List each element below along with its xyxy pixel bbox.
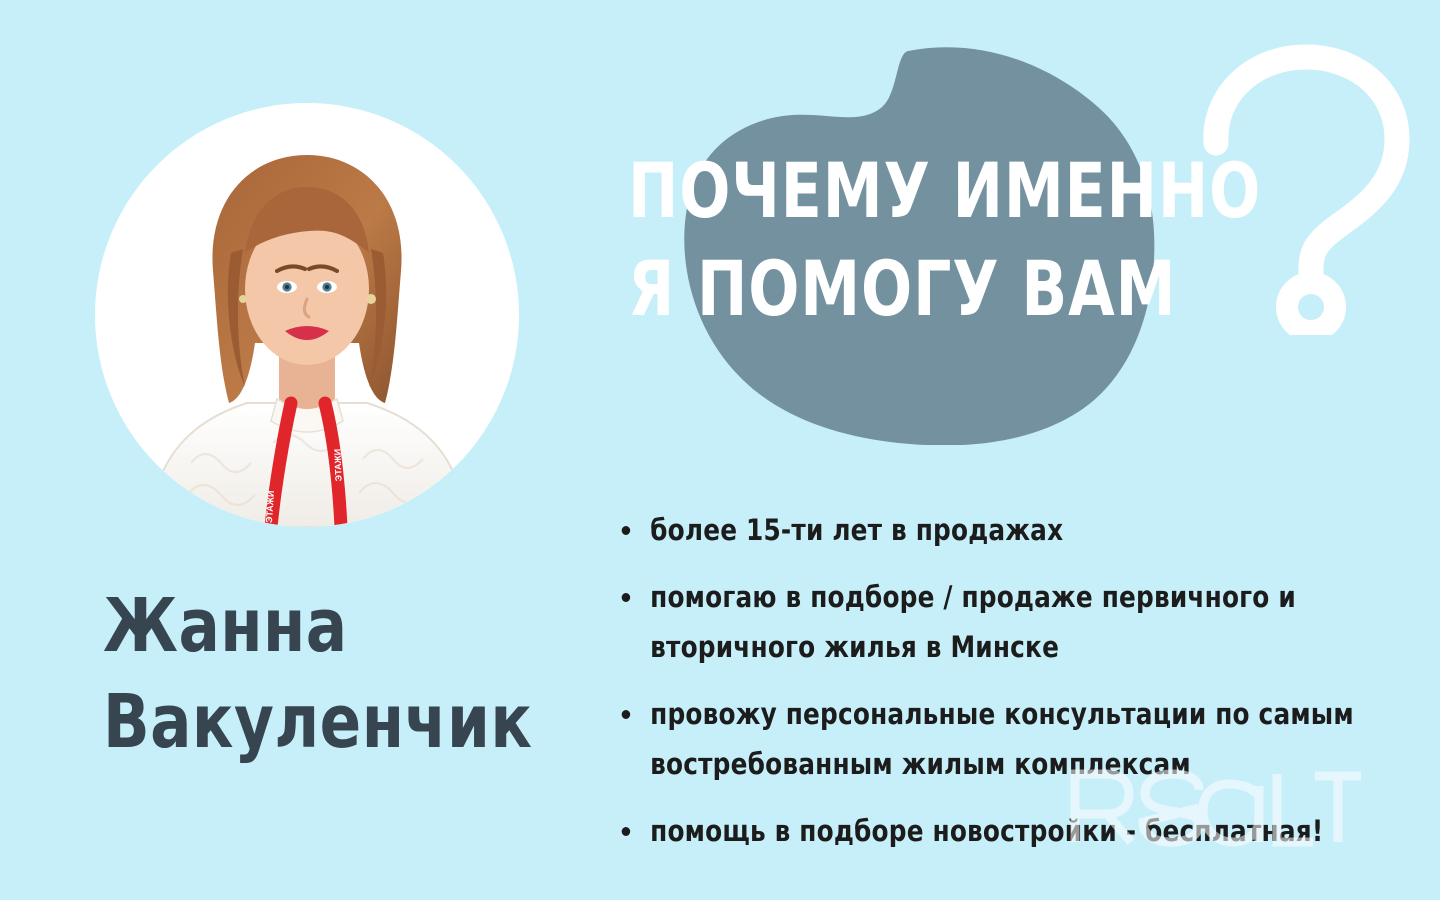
realt-watermark-logo xyxy=(1063,762,1363,848)
list-item: более 15-ти лет в продажах xyxy=(615,505,1394,555)
headline-line-1: ПОЧЕМУ ИМЕННО xyxy=(628,142,1297,240)
agent-last-name: Вакуленчик xyxy=(103,674,563,770)
agent-first-name: Жанна xyxy=(103,578,563,674)
agent-portrait: ЭТАЖИ ЭТАЖИ xyxy=(95,103,519,527)
promo-banner: ПОЧЕМУ ИМЕННО Я ПОМОГУ ВАМ xyxy=(0,0,1440,900)
headline: ПОЧЕМУ ИМЕННО Я ПОМОГУ ВАМ xyxy=(628,142,1297,338)
agent-name: Жанна Вакуленчик xyxy=(103,578,563,770)
headline-line-2: Я ПОМОГУ ВАМ xyxy=(628,240,1297,338)
list-item: помогаю в подборе / продаже первичного и… xyxy=(615,572,1394,672)
svg-text:ЭТАЖИ: ЭТАЖИ xyxy=(332,449,343,482)
agent-photo-circle: ЭТАЖИ ЭТАЖИ xyxy=(95,103,519,527)
